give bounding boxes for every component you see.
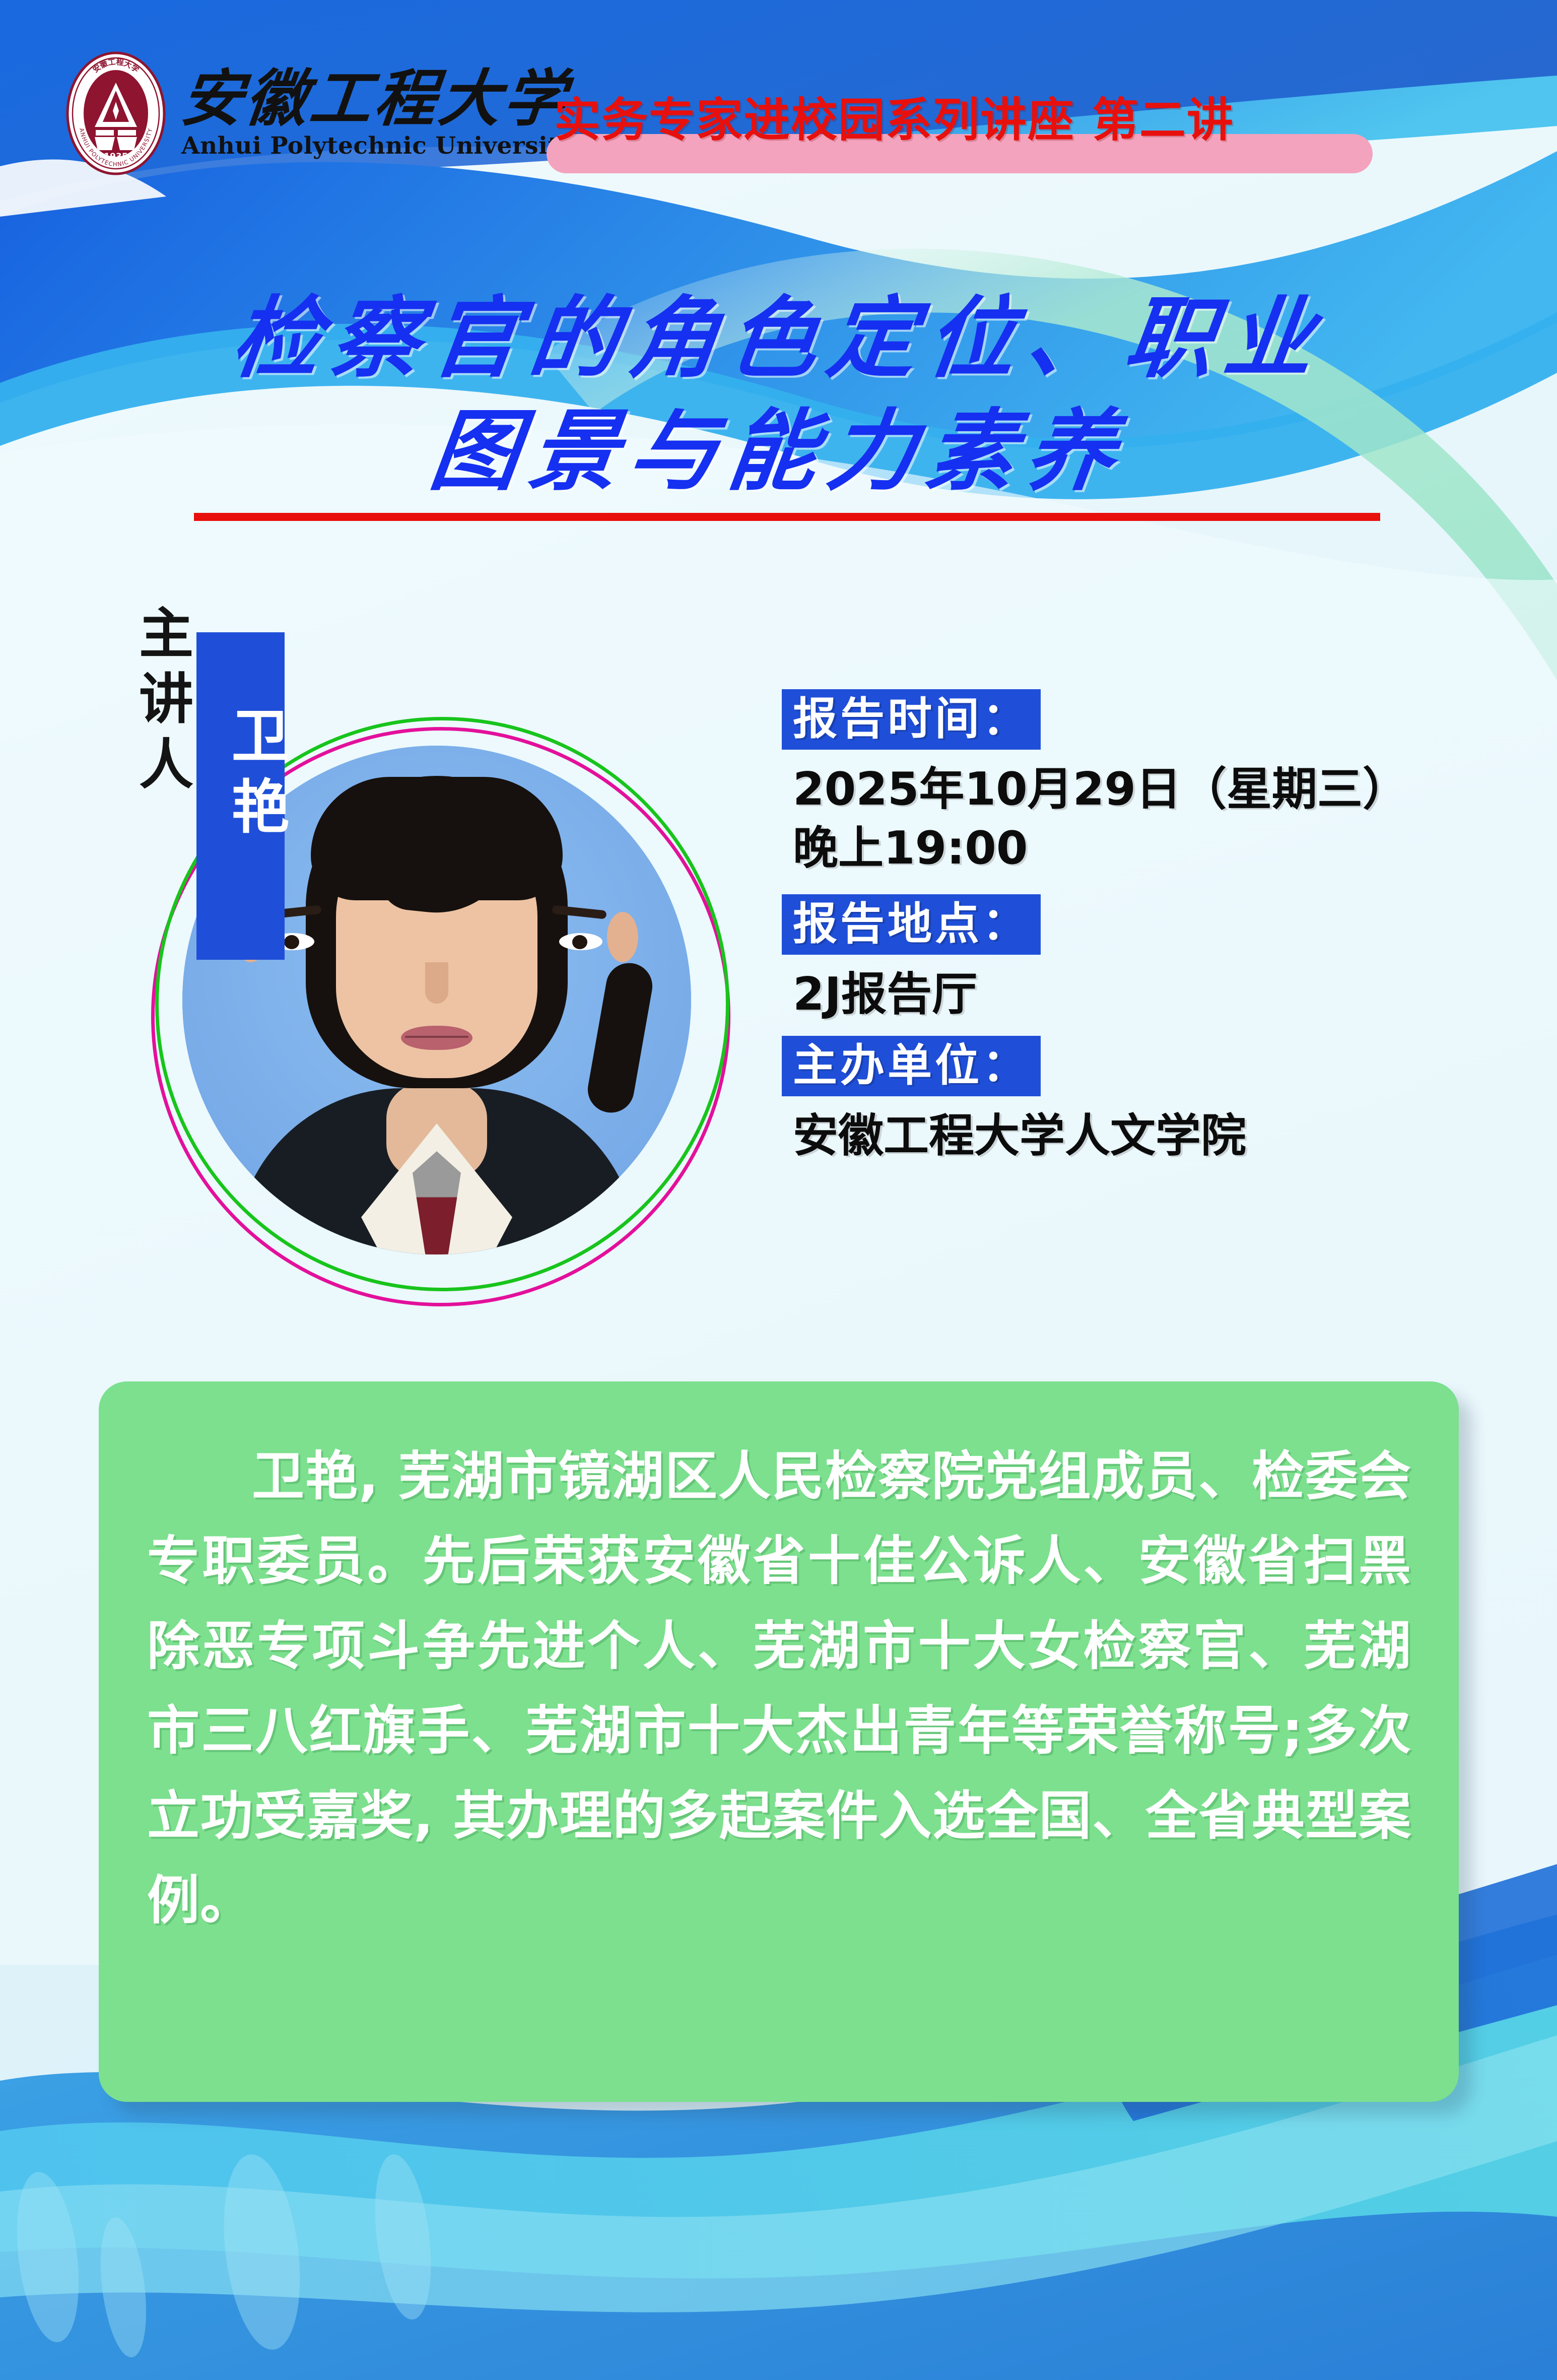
university-logo: 1935 安徽工程大学 ANHUI POLYTECHNIC UNIVERSITY… <box>65 50 534 176</box>
host-label: 主办单位： <box>782 1036 1041 1096</box>
university-name-en: Anhui Polytechnic University <box>181 132 573 160</box>
time-label: 报告时间： <box>782 689 1041 750</box>
time-value-line1: 2025年10月29日（星期三） <box>793 761 1512 818</box>
page-title: 检察官的角色定位、职业 图景与能力素养 <box>0 282 1557 508</box>
series-title: 实务专家进校园系列讲座 第二讲 <box>554 95 1380 146</box>
page-title-line2: 图景与能力素养 <box>0 395 1557 508</box>
speaker-name-tag: 卫艳 <box>196 632 285 960</box>
university-seal-icon: 1935 安徽工程大学 ANHUI POLYTECHNIC UNIVERSITY <box>65 51 166 175</box>
university-name-cn: 安徽工程大学 <box>178 67 576 129</box>
page-title-line1: 检察官的角色定位、职业 <box>0 282 1557 395</box>
poster-root: 1935 安徽工程大学 ANHUI POLYTECHNIC UNIVERSITY… <box>0 0 1557 2380</box>
speaker-bio-card: 卫艳, 芜湖市镜湖区人民检察院党组成员、检委会专职委员。先后荣获安徽省十佳公诉人… <box>99 1381 1459 2102</box>
speaker-name: 卫艳 <box>196 705 285 847</box>
place-value: 2J报告厅 <box>793 966 1512 1023</box>
event-details: 报告时间： 2025年10月29日（星期三） 晚上19:00 报告地点： 2J报… <box>782 689 1512 1165</box>
speaker-bio-text: 卫艳, 芜湖市镜湖区人民检察院党组成员、检委会专职委员。先后荣获安徽省十佳公诉人… <box>147 1434 1411 1943</box>
time-value-line2: 晚上19:00 <box>793 820 1512 877</box>
title-divider <box>194 513 1380 521</box>
place-label: 报告地点： <box>782 894 1041 955</box>
host-value: 安徽工程大学人文学院 <box>793 1107 1512 1164</box>
